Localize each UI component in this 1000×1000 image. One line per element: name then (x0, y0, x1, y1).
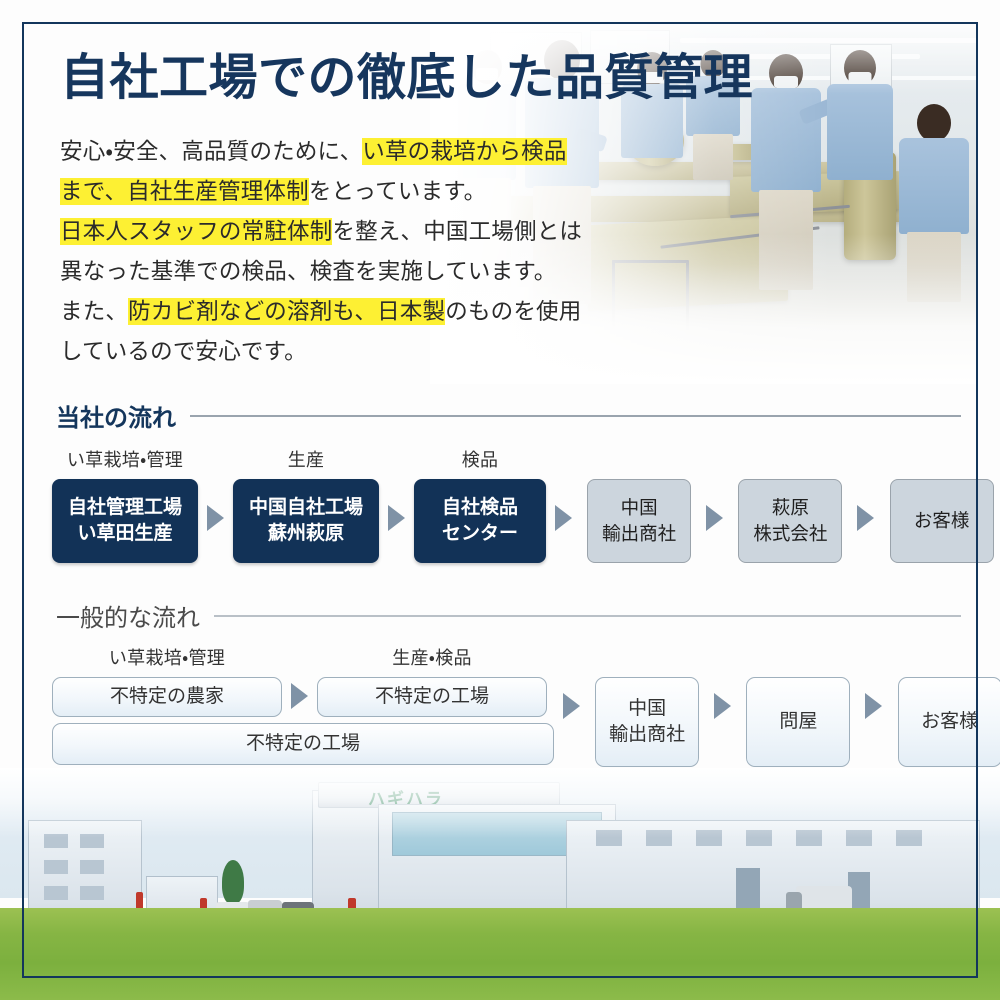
text-plain: をとっています。 (309, 179, 487, 204)
photo-fade-top (0, 768, 1000, 838)
text-plain: また、 (60, 299, 128, 324)
window (44, 886, 68, 900)
box-line-1: 中国自社工場 (249, 495, 363, 521)
section-divider (214, 615, 961, 617)
highlight-text: 自社生産管理体制 (127, 178, 309, 205)
paragraph-line-1: 安心・安全、高品質のために、い草の栽培から検品 (60, 132, 582, 172)
paragraph-line-2: まで、自社生産管理体制をとっています。 (60, 172, 582, 212)
flow-arrow-icon (563, 693, 580, 719)
flow-step-1: 生産 中国自社工場 蘇州萩原 (233, 446, 379, 563)
box-label: 不特定の工場 (375, 684, 489, 710)
section-divider (190, 415, 961, 417)
general-flow-section-header: 一般的な流れ (56, 598, 961, 633)
text-plain: 安心・安全、高品質のために、 (60, 139, 362, 164)
text-plain: のものを使用 (445, 299, 581, 324)
general-step-0: い草栽培・管理 不特定の農家 (52, 644, 282, 717)
intro-paragraph: 安心・安全、高品質のために、い草の栽培から検品 まで、自社生産管理体制をとってい… (60, 132, 582, 372)
flow-arrow-icon (857, 505, 874, 531)
flow-caption: い草栽培・管理 (67, 446, 183, 472)
own-flow-section-header: 当社の流れ (56, 398, 961, 433)
box-line-1: 萩原 (772, 495, 809, 521)
flow-arrow-icon (388, 505, 405, 531)
window (80, 886, 104, 900)
paragraph-line-5: また、防カビ剤などの溶剤も、日本製のものを使用 (60, 292, 582, 332)
flow-box-inspection-center[interactable]: 自社検品 センター (414, 479, 546, 563)
flow-step-5: い草栽培・管理 お客様 (883, 446, 999, 563)
paragraph-line-6: しているので安心です。 (60, 332, 582, 372)
paragraph-line-4: 異なった基準での検品、検査を実施しています。 (60, 252, 582, 292)
box-line-1: お客様 (914, 508, 970, 534)
flow-step-0: い草栽培・管理 自社管理工場 い草田生産 (52, 446, 198, 563)
box-line-2: 輸出商社 (609, 722, 685, 748)
flow-arrow-icon (555, 505, 572, 531)
flow-step-3: い草栽培・管理 中国 輸出商社 (581, 446, 697, 563)
general-flow-diagram: い草栽培・管理 不特定の農家 生産・検品 不特定の工場 不特定の工場 (52, 644, 1000, 767)
flow-box-wholesaler[interactable]: 問屋 (746, 677, 850, 767)
highlight-text: い草の栽培から検品 (362, 138, 566, 165)
box-line-1: 中国 (628, 696, 666, 722)
box-line-2: い草田生産 (77, 521, 172, 547)
window (80, 860, 104, 874)
flow-box-hagihara[interactable]: 萩原 株式会社 (738, 479, 842, 563)
box-label: 不特定の農家 (110, 684, 224, 710)
general-step-4: い草栽培・管理 お客様 (891, 644, 1000, 767)
highlight-text: まで、 (60, 178, 127, 205)
flow-box-own-farm[interactable]: 自社管理工場 い草田生産 (52, 479, 198, 563)
box-label: 不特定の工場 (246, 731, 360, 757)
highlight-text: 日本人スタッフの常駐体制 (60, 218, 332, 245)
box-line-1: 自社管理工場 (68, 495, 182, 521)
flow-step-2: 検品 自社検品 センター (414, 446, 546, 563)
flow-caption: 生産・検品 (392, 644, 472, 670)
paragraph-line-3: 日本人スタッフの常駐体制を整え、中国工場側とは (60, 212, 582, 252)
flow-arrow-icon (865, 693, 882, 719)
flow-arrow-icon (706, 505, 723, 531)
flow-arrow-icon (714, 693, 731, 719)
box-line-2: 輸出商社 (602, 521, 676, 547)
box-line-2: 株式会社 (753, 521, 827, 547)
lawn (0, 908, 1000, 1000)
own-flow-title: 当社の流れ (56, 398, 176, 433)
highlight-text: 防カビ剤などの溶剤も、日本製 (128, 298, 445, 325)
flow-box-unspecified-factory-wide[interactable]: 不特定の工場 (52, 723, 554, 765)
flow-caption: 検品 (462, 446, 499, 472)
flow-caption: 生産 (288, 446, 325, 472)
tree (222, 860, 244, 904)
general-flow-top-row: い草栽培・管理 不特定の農家 生産・検品 不特定の工場 (52, 644, 554, 717)
factory-exterior-photo: ハギハラ (0, 768, 1000, 1000)
window (44, 860, 68, 874)
flow-step-4: い草栽培・管理 萩原 株式会社 (732, 446, 848, 563)
flow-box-china-factory[interactable]: 中国自社工場 蘇州萩原 (233, 479, 379, 563)
flow-box-unspecified-factory-top[interactable]: 不特定の工場 (317, 677, 547, 717)
flow-caption: い草栽培・管理 (109, 644, 225, 670)
flow-box-customer-general[interactable]: お客様 (898, 677, 1000, 767)
flow-box-customer[interactable]: お客様 (890, 479, 994, 563)
flow-box-unspecified-farm[interactable]: 不特定の農家 (52, 677, 282, 717)
flow-arrow-icon (291, 683, 308, 709)
box-line-2: 蘇州萩原 (268, 521, 344, 547)
box-line-2: センター (442, 521, 518, 547)
general-flow-title: 一般的な流れ (56, 598, 200, 633)
text-plain: を整え、中国工場側とは (332, 219, 582, 244)
own-flow-diagram: い草栽培・管理 自社管理工場 い草田生産 生産 中国自社工場 蘇州萩原 検品 自… (52, 446, 1000, 563)
general-step-1: 生産・検品 不特定の工場 (317, 644, 547, 717)
box-line-1: 中国 (621, 495, 658, 521)
flow-box-china-exporter-general[interactable]: 中国 輸出商社 (595, 677, 699, 767)
general-flow-left-cluster: い草栽培・管理 不特定の農家 生産・検品 不特定の工場 不特定の工場 (52, 644, 554, 767)
box-label: お客様 (921, 709, 978, 735)
infographic-page: 自社工場での徹底した品質管理 安心・安全、高品質のために、い草の栽培から検品 ま… (0, 0, 1000, 1000)
loading-door (736, 868, 760, 912)
general-step-2: い草栽培・管理 中国 輸出商社 (589, 644, 705, 767)
box-label: 問屋 (779, 709, 817, 735)
flow-arrow-icon (207, 505, 224, 531)
general-step-3: い草栽培・管理 問屋 (740, 644, 856, 767)
page-title: 自社工場での徹底した品質管理 (60, 52, 753, 105)
box-line-1: 自社検品 (442, 495, 518, 521)
flow-box-china-exporter[interactable]: 中国 輸出商社 (587, 479, 691, 563)
